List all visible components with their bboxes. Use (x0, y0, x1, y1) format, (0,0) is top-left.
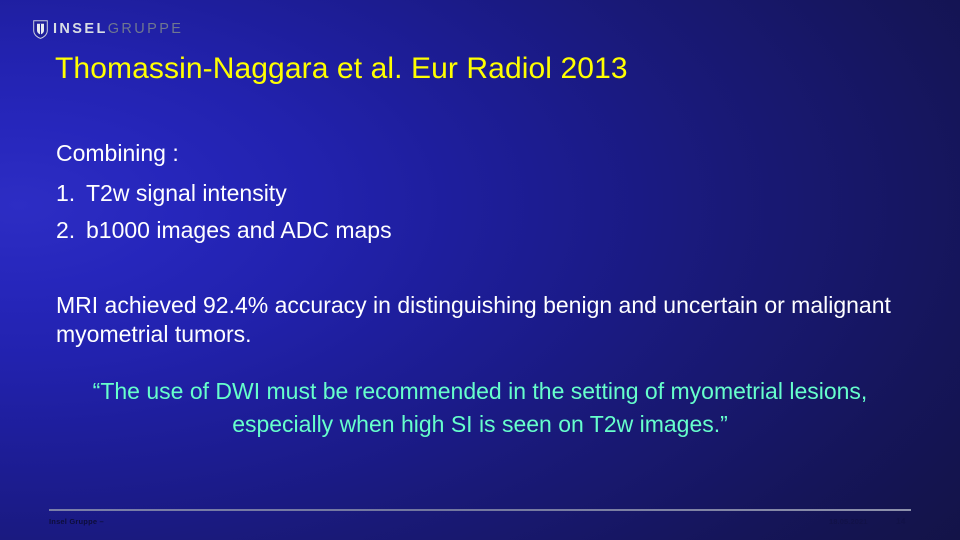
list-item-number: 2. (56, 212, 86, 249)
highlighted-quote: “The use of DWI must be recommended in t… (22, 375, 938, 440)
body-lead-text: Combining : (56, 142, 926, 165)
slide-title: Thomassin-Naggara et al. Eur Radiol 2013 (55, 52, 628, 86)
quote-line-2: especially when high SI is seen on T2w i… (22, 408, 938, 441)
list-item-label: T2w signal intensity (86, 175, 287, 212)
slide-body-list: Combining : 1. T2w signal intensity 2. b… (56, 142, 926, 250)
results-paragraph: MRI achieved 92.4% accuracy in distingui… (56, 291, 924, 350)
shield-icon (33, 20, 48, 39)
footer-date: 18.05.2021 (829, 517, 868, 526)
quote-line-1: “The use of DWI must be recommended in t… (22, 375, 938, 408)
list-item-label: b1000 images and ADC maps (86, 212, 392, 249)
presentation-slide: INSELGRUPPE Thomassin-Naggara et al. Eur… (0, 0, 960, 540)
list-item-number: 1. (56, 175, 86, 212)
logo-wordmark: INSELGRUPPE (53, 22, 183, 37)
footer-organization: Insel Gruppe – (49, 517, 104, 526)
logo-insel-text: INSEL (53, 21, 108, 37)
list-item: 1. T2w signal intensity (56, 175, 926, 212)
logo-gruppe-text: GRUPPE (108, 21, 184, 37)
footer-divider (49, 509, 911, 511)
insel-gruppe-logo: INSELGRUPPE (33, 17, 183, 41)
footer-page-number: 14 (896, 516, 905, 526)
list-item: 2. b1000 images and ADC maps (56, 212, 926, 249)
numbered-list: 1. T2w signal intensity 2. b1000 images … (56, 175, 926, 250)
